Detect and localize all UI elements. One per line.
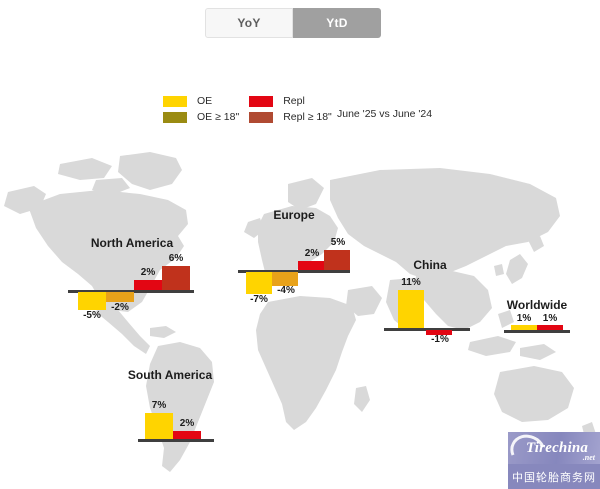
legend-swatch-repl-18 (249, 112, 273, 123)
bar-label-north-america-repl-18: 6% (158, 253, 194, 264)
watermark-banner: Tirechina .net (508, 432, 600, 464)
legend-period-note: June '25 vs June '24 (337, 108, 432, 120)
bar-label-north-america-oe-18: -2% (102, 302, 138, 313)
legend-label-repl: Repl (283, 95, 332, 107)
toggle-option-ytd[interactable]: YtD (293, 8, 381, 38)
chart-europe: -7% -4% 2% 5% (232, 228, 356, 298)
toggle-option-yoy[interactable]: YoY (205, 8, 293, 38)
legend-label-oe: OE (197, 95, 239, 107)
period-toggle[interactable]: YoY YtD (205, 8, 381, 38)
bar-label-south-america-oe: 7% (140, 400, 178, 411)
region-title-south-america: South America (112, 368, 228, 382)
bar-worldwide-repl (537, 325, 563, 330)
chart-baseline (504, 330, 570, 333)
bar-worldwide-oe (511, 325, 537, 330)
bar-label-china-oe: 11% (393, 277, 429, 288)
region-title-north-america: North America (62, 236, 202, 250)
bar-china-oe (398, 290, 424, 328)
chart-worldwide: 1% 1% (487, 316, 587, 342)
bar-south-america-repl (173, 431, 201, 439)
region-title-china: China (382, 258, 478, 272)
bar-north-america-repl (134, 280, 162, 290)
chart-baseline (138, 439, 214, 442)
region-south-america: South America 7% 2% (112, 368, 228, 446)
bar-north-america-repl-18 (162, 266, 190, 290)
bar-label-south-america-repl: 2% (168, 418, 206, 429)
bar-label-europe-oe-18: -4% (268, 285, 304, 296)
legend-label-repl-18: Repl ≥ 18" (283, 111, 332, 123)
watermark-logo: Tirechina .net 中国轮胎商务网 (508, 432, 600, 489)
watermark-chinese-text: 中国轮胎商务网 (508, 464, 600, 489)
legend-swatch-oe (163, 96, 187, 107)
bar-europe-repl (298, 261, 324, 270)
bar-label-china-repl: -1% (422, 334, 458, 345)
region-title-worldwide: Worldwide (487, 298, 587, 312)
region-china: China 11% -1% (382, 258, 478, 346)
watermark-domain: .net (583, 453, 595, 462)
region-north-america: North America -5% -2% 2% 6% (62, 236, 202, 326)
bar-label-europe-repl-18: 5% (320, 237, 356, 248)
region-europe: Europe -7% -4% 2% 5% (232, 208, 356, 298)
chart-north-america: -5% -2% 2% 6% (62, 254, 202, 326)
legend-swatch-oe-18 (163, 112, 187, 123)
legend: OE Repl OE ≥ 18" Repl ≥ 18" (163, 95, 332, 123)
chart-south-america: 7% 2% (112, 386, 228, 446)
chart-china: 11% -1% (382, 276, 478, 346)
bar-europe-repl-18 (324, 250, 350, 270)
bar-europe-oe-18 (272, 272, 298, 286)
legend-label-oe-18: OE ≥ 18" (197, 111, 239, 123)
bar-north-america-oe-18 (106, 292, 134, 302)
bar-label-north-america-repl: 2% (130, 267, 166, 278)
region-title-europe: Europe (232, 208, 356, 222)
watermark-brand: Tirechina (526, 440, 588, 457)
legend-swatch-repl (249, 96, 273, 107)
bar-label-worldwide-repl: 1% (532, 313, 568, 324)
region-worldwide: Worldwide 1% 1% (487, 298, 587, 342)
